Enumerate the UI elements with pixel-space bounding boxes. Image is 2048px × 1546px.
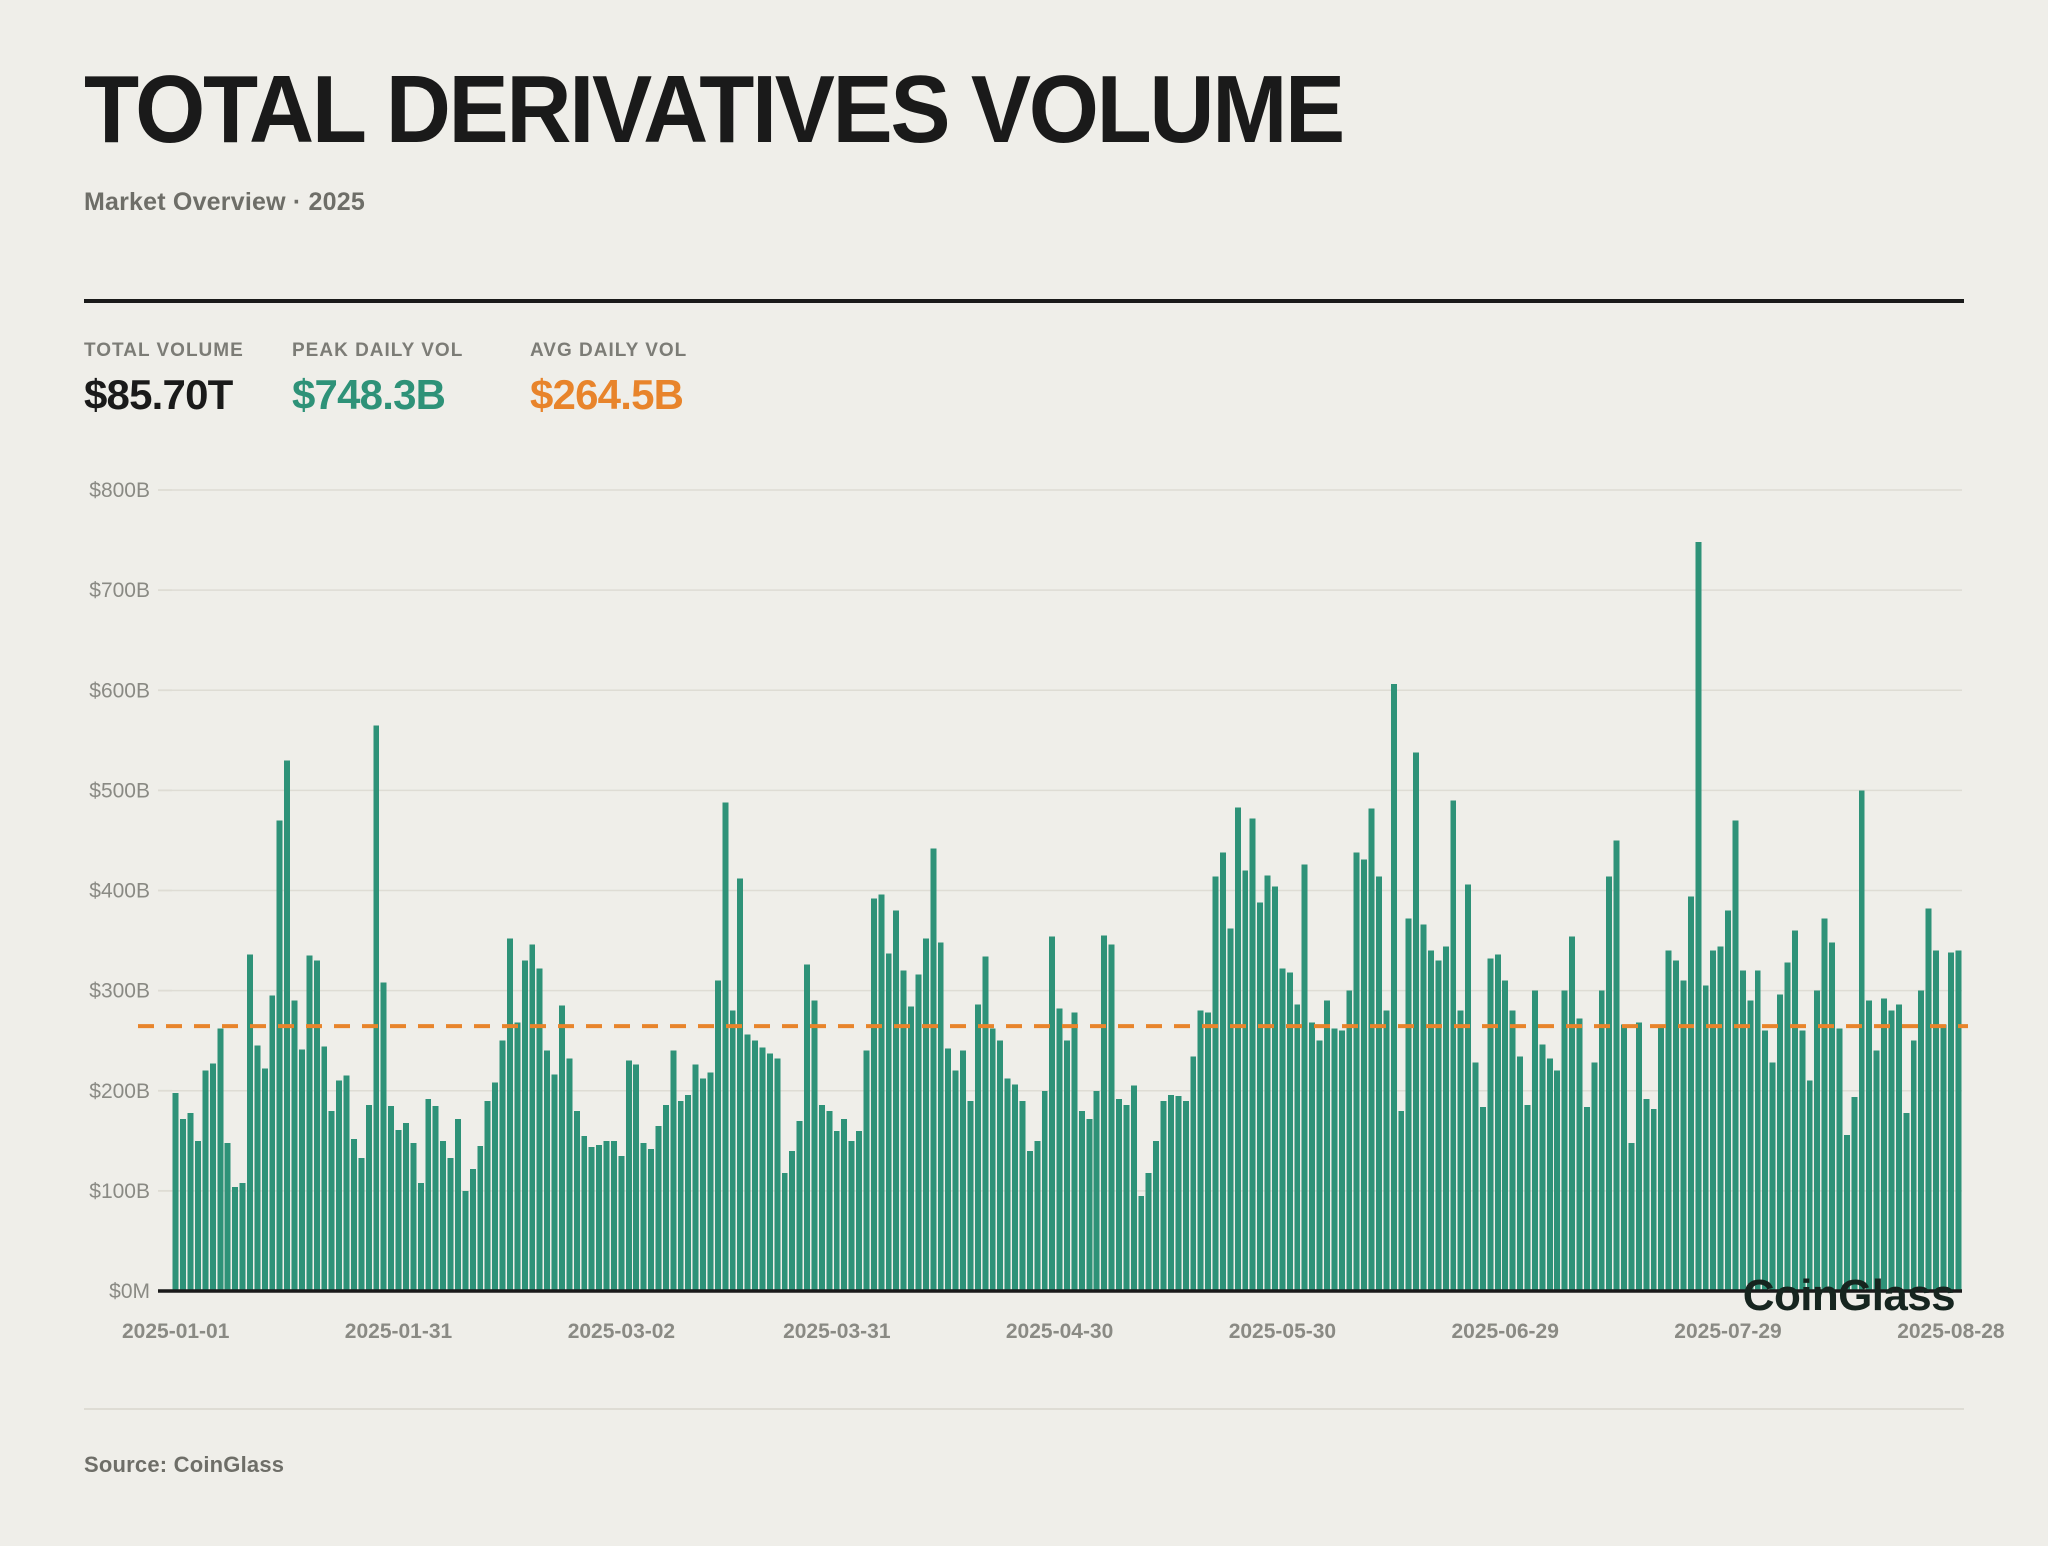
bar: [1331, 1029, 1337, 1291]
x-axis-tick-label: 2025-07-29: [1674, 1320, 1781, 1343]
bar: [1450, 800, 1456, 1291]
bar: [871, 899, 877, 1291]
bar: [930, 848, 936, 1291]
bar: [893, 911, 899, 1291]
bar: [1532, 991, 1538, 1291]
bar: [886, 954, 892, 1291]
bar: [1888, 1011, 1894, 1291]
bar: [1383, 1011, 1389, 1291]
stat-label-total-volume: TOTAL VOLUME: [84, 340, 292, 362]
bar: [462, 1191, 468, 1291]
bar: [1057, 1009, 1063, 1291]
bar: [1324, 1001, 1330, 1291]
bar: [1346, 991, 1352, 1291]
bar: [633, 1065, 639, 1291]
bar: [1525, 1105, 1531, 1291]
y-axis-tick-label: $600B: [89, 679, 150, 702]
bar: [1770, 1063, 1776, 1291]
bar: [670, 1051, 676, 1291]
bar: [693, 1065, 699, 1291]
bar: [767, 1054, 773, 1291]
bar: [700, 1079, 706, 1291]
bar: [514, 1023, 520, 1291]
bar: [507, 939, 513, 1291]
header: TOTAL DERIVATIVES VOLUME Market Overview…: [84, 62, 1964, 217]
bar: [678, 1101, 684, 1291]
stat-value-total-volume: $85.70T: [84, 374, 292, 416]
bar: [1027, 1151, 1033, 1291]
x-axis-tick-label: 2025-06-29: [1451, 1320, 1558, 1343]
x-axis-tick-label: 2025-05-30: [1229, 1320, 1336, 1343]
bar: [1688, 897, 1694, 1291]
bar: [1948, 953, 1954, 1291]
bar: [782, 1173, 788, 1291]
bar: [1391, 684, 1397, 1291]
bar: [1109, 945, 1115, 1291]
bar: [797, 1121, 803, 1291]
bar: [1005, 1079, 1011, 1291]
bar: [1955, 951, 1961, 1291]
bar: [574, 1111, 580, 1291]
bar: [396, 1130, 402, 1291]
bar-chart: $0M$100B$200B$300B$400B$500B$600B$700B$8…: [0, 430, 2048, 1360]
y-axis-tick-label: $800B: [89, 479, 150, 502]
bar: [1836, 1029, 1842, 1291]
bar: [1502, 981, 1508, 1291]
bar: [529, 945, 535, 1291]
bar: [1911, 1041, 1917, 1291]
bar: [1651, 1109, 1657, 1291]
x-axis-tick-label: 2025-01-01: [122, 1320, 230, 1343]
stat-label-peak-daily-vol: PEAK DAILY VOL: [292, 340, 530, 362]
bar: [834, 1131, 840, 1291]
x-axis-tick-label: 2025-03-02: [568, 1320, 675, 1343]
bar: [1673, 961, 1679, 1291]
bar-series: [173, 542, 1962, 1291]
bar: [188, 1113, 194, 1291]
bar: [1317, 1041, 1323, 1291]
bar: [1547, 1059, 1553, 1291]
bar: [1421, 925, 1427, 1291]
bar: [269, 996, 275, 1291]
bar: [314, 961, 320, 1291]
bar: [945, 1049, 951, 1291]
bar: [745, 1035, 751, 1291]
bar: [1161, 1101, 1167, 1291]
bar: [626, 1061, 632, 1291]
bar: [1279, 969, 1285, 1291]
bar: [915, 975, 921, 1291]
bar: [410, 1143, 416, 1291]
bar: [1940, 1025, 1946, 1291]
bar: [648, 1149, 654, 1291]
bar: [863, 1051, 869, 1291]
bar: [306, 956, 312, 1291]
bar: [1636, 1023, 1642, 1291]
bar: [1539, 1045, 1545, 1291]
bar: [217, 1029, 223, 1291]
bar: [1881, 999, 1887, 1291]
header-divider: [84, 299, 1964, 303]
bar: [1487, 959, 1493, 1291]
bar: [1034, 1141, 1040, 1291]
bar: [373, 725, 379, 1291]
bar: [715, 981, 721, 1291]
bar: [1577, 1019, 1583, 1291]
bar: [1851, 1097, 1857, 1291]
y-axis-tick-label: $700B: [89, 579, 150, 602]
bar: [1606, 876, 1612, 1291]
bar: [804, 965, 810, 1291]
bar: [967, 1101, 973, 1291]
bar: [1294, 1005, 1300, 1291]
bar: [953, 1071, 959, 1291]
stats-row: TOTAL VOLUME $85.70T PEAK DAILY VOL $748…: [84, 340, 687, 416]
bar: [1614, 840, 1620, 1291]
bar: [358, 1158, 364, 1291]
bar: [752, 1041, 758, 1291]
bar: [180, 1119, 186, 1291]
bar: [1554, 1071, 1560, 1291]
bar: [856, 1131, 862, 1291]
bar: [455, 1119, 461, 1291]
bar: [1339, 1031, 1345, 1291]
bar: [1866, 1001, 1872, 1291]
stat-label-avg-daily-vol: AVG DAILY VOL: [530, 340, 687, 362]
bar: [1086, 1119, 1092, 1291]
bar: [1190, 1057, 1196, 1291]
bar: [470, 1169, 476, 1291]
bar: [1101, 936, 1107, 1291]
bar: [1480, 1107, 1486, 1291]
bar: [1413, 752, 1419, 1291]
bar: [1116, 1099, 1122, 1291]
page-title: TOTAL DERIVATIVES VOLUME: [84, 62, 1851, 158]
bar: [247, 955, 253, 1291]
y-axis-tick-label: $100B: [89, 1180, 150, 1203]
bar: [1019, 1101, 1025, 1291]
bar: [299, 1050, 305, 1291]
bar: [403, 1123, 409, 1291]
bar: [1287, 973, 1293, 1291]
bar: [1926, 909, 1932, 1291]
bar: [240, 1183, 246, 1291]
bar: [1777, 995, 1783, 1291]
bar: [1398, 1111, 1404, 1291]
bar: [1784, 963, 1790, 1291]
bar: [849, 1141, 855, 1291]
bar: [440, 1141, 446, 1291]
stat-avg-daily-vol: AVG DAILY VOL $264.5B: [530, 340, 687, 416]
bar: [641, 1143, 647, 1291]
bar: [566, 1059, 572, 1291]
bar: [500, 1041, 506, 1291]
x-axis-tick-label: 2025-03-31: [783, 1320, 891, 1343]
bar: [366, 1105, 372, 1291]
bar: [878, 895, 884, 1292]
bar: [1732, 820, 1738, 1291]
bar: [388, 1106, 394, 1291]
bar: [812, 1001, 818, 1291]
bar: [618, 1156, 624, 1291]
bar: [1227, 929, 1233, 1291]
bar: [1079, 1111, 1085, 1291]
stat-total-volume: TOTAL VOLUME $85.70T: [84, 340, 292, 416]
bar: [663, 1105, 669, 1291]
bar: [1814, 991, 1820, 1291]
bar: [1309, 1023, 1315, 1291]
bar: [908, 1007, 914, 1291]
bar: [1695, 542, 1701, 1291]
bar: [1591, 1063, 1597, 1291]
bar: [1257, 903, 1263, 1291]
stat-value-avg-daily-vol: $264.5B: [530, 374, 687, 416]
bar: [1012, 1085, 1018, 1291]
bar: [901, 971, 907, 1291]
bar: [351, 1139, 357, 1291]
bar: [1175, 1096, 1181, 1291]
bar: [1064, 1041, 1070, 1291]
bar: [1495, 955, 1501, 1291]
bar: [1123, 1105, 1129, 1291]
bar: [1376, 876, 1382, 1291]
chart-plot-area: $0M$100B$200B$300B$400B$500B$600B$700B$8…: [0, 430, 2048, 1360]
bar: [596, 1145, 602, 1291]
stat-value-peak-daily-vol: $748.3B: [292, 374, 530, 416]
bar: [1903, 1113, 1909, 1291]
bar: [1361, 859, 1367, 1291]
bar: [1658, 1026, 1664, 1291]
y-axis-tick-label: $0M: [109, 1280, 150, 1303]
bar: [1153, 1141, 1159, 1291]
bar: [173, 1093, 179, 1291]
y-axis-ticks: $0M$100B$200B$300B$400B$500B$600B$700B$8…: [89, 479, 150, 1303]
bar: [1250, 818, 1256, 1291]
bar: [1666, 951, 1672, 1291]
bar: [1762, 1031, 1768, 1291]
bar: [722, 802, 728, 1291]
bar: [923, 939, 929, 1291]
bar: [195, 1141, 201, 1291]
bar: [1822, 919, 1828, 1291]
bar: [1094, 1091, 1100, 1291]
bar: [938, 943, 944, 1291]
bar: [1131, 1086, 1137, 1291]
bar: [982, 957, 988, 1291]
bar: [552, 1075, 558, 1291]
bar: [1718, 947, 1724, 1291]
bar: [960, 1051, 966, 1291]
bar: [1629, 1143, 1635, 1291]
bar: [581, 1136, 587, 1291]
bar: [1859, 790, 1865, 1291]
bar: [1354, 852, 1360, 1291]
bar: [774, 1059, 780, 1291]
bar: [1792, 931, 1798, 1291]
bar: [1220, 852, 1226, 1291]
bar: [485, 1101, 491, 1291]
bar: [1643, 1099, 1649, 1291]
bar: [1510, 1011, 1516, 1291]
bar: [1458, 1011, 1464, 1291]
bar: [1874, 1051, 1880, 1291]
bar: [826, 1111, 832, 1291]
page-subtitle: Market Overview · 2025: [84, 188, 1964, 217]
bar: [321, 1047, 327, 1291]
bar: [841, 1119, 847, 1291]
y-axis-tick-label: $300B: [89, 980, 150, 1003]
bar: [1465, 884, 1471, 1291]
bar: [604, 1141, 610, 1291]
bar: [1071, 1013, 1077, 1291]
bar: [1168, 1095, 1174, 1291]
bar: [1183, 1101, 1189, 1291]
bar: [1933, 951, 1939, 1291]
bar: [559, 1006, 565, 1291]
bar: [1584, 1107, 1590, 1291]
bar: [1747, 1001, 1753, 1291]
footer-divider: [84, 1408, 1964, 1410]
bar: [433, 1106, 439, 1291]
x-axis-tick-label: 2025-08-28: [1897, 1320, 2005, 1343]
bar: [685, 1095, 691, 1291]
bar: [589, 1147, 595, 1291]
bar: [819, 1105, 825, 1291]
bar: [277, 820, 283, 1291]
bar: [1443, 947, 1449, 1291]
bar: [329, 1111, 335, 1291]
bar: [522, 961, 528, 1291]
y-axis-tick-label: $200B: [89, 1080, 150, 1103]
bar: [1829, 943, 1835, 1291]
bar: [1272, 887, 1278, 1292]
bar: [656, 1126, 662, 1291]
bar: [1740, 971, 1746, 1291]
bar: [708, 1073, 714, 1291]
bar: [730, 1011, 736, 1291]
x-axis-tick-label: 2025-04-30: [1006, 1320, 1113, 1343]
bar: [1799, 1031, 1805, 1291]
bar: [492, 1083, 498, 1291]
bar: [210, 1064, 216, 1291]
y-axis-tick-label: $500B: [89, 779, 150, 802]
bar: [254, 1046, 260, 1291]
x-axis-ticks: 2025-01-012025-01-312025-03-022025-03-31…: [122, 1320, 2048, 1343]
bar: [381, 983, 387, 1291]
bar: [1198, 1011, 1204, 1291]
bar: [1242, 870, 1248, 1291]
bar: [1042, 1091, 1048, 1291]
bar: [537, 969, 543, 1291]
bar: [1725, 911, 1731, 1291]
bar: [1205, 1013, 1211, 1291]
bar: [975, 1005, 981, 1291]
bar: [1265, 875, 1271, 1291]
bar: [448, 1158, 454, 1291]
bar: [1369, 808, 1375, 1291]
bar: [544, 1051, 550, 1291]
bar: [202, 1071, 208, 1291]
bar: [1435, 961, 1441, 1291]
bar: [1621, 1025, 1627, 1291]
bar: [1517, 1057, 1523, 1291]
stat-peak-daily-vol: PEAK DAILY VOL $748.3B: [292, 340, 530, 416]
coinglass-watermark: CoinGlass: [1743, 1271, 1955, 1320]
bar: [1562, 991, 1568, 1291]
bar: [1755, 971, 1761, 1291]
bar: [1710, 951, 1716, 1291]
bar: [1918, 991, 1924, 1291]
bar: [1213, 876, 1219, 1291]
bar: [418, 1183, 424, 1291]
x-axis-tick-label: 2025-01-31: [345, 1320, 453, 1343]
bar: [1146, 1173, 1152, 1291]
bar: [997, 1041, 1003, 1291]
bar: [477, 1146, 483, 1291]
bar: [292, 1001, 298, 1291]
bar: [262, 1069, 268, 1291]
bar: [1302, 864, 1308, 1291]
bar: [1807, 1081, 1813, 1291]
bar: [425, 1099, 431, 1291]
bar: [737, 878, 743, 1291]
bar: [1569, 937, 1575, 1291]
bar: [1406, 919, 1412, 1291]
chart-page: TOTAL DERIVATIVES VOLUME Market Overview…: [0, 0, 2048, 1546]
bar: [1599, 991, 1605, 1291]
bar: [990, 1029, 996, 1291]
bar: [225, 1143, 231, 1291]
bar: [1844, 1135, 1850, 1291]
bar: [1703, 986, 1709, 1291]
bar: [1049, 937, 1055, 1291]
bar: [760, 1048, 766, 1291]
bar: [344, 1076, 350, 1291]
bar: [611, 1141, 617, 1291]
bar: [1138, 1196, 1144, 1291]
bar: [1473, 1063, 1479, 1291]
bar: [1428, 951, 1434, 1291]
y-axis-tick-label: $400B: [89, 880, 150, 903]
bar: [336, 1081, 342, 1291]
bar: [1235, 807, 1241, 1291]
bar: [232, 1187, 238, 1291]
bar: [1896, 1005, 1902, 1291]
source-note: Source: CoinGlass: [84, 1452, 284, 1478]
bar: [789, 1151, 795, 1291]
